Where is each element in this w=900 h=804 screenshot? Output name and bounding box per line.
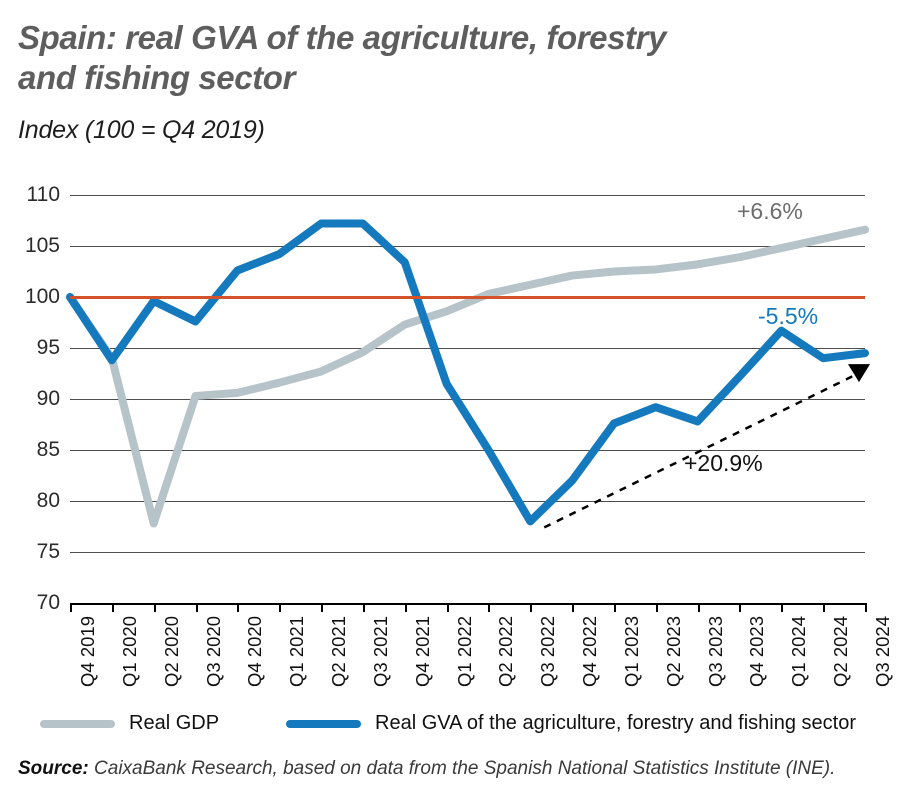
legend-item-gdp[interactable]: Real GDP [40, 712, 219, 735]
x-axis-tick-label: Q1 2021 [286, 616, 308, 687]
x-axis-tick [237, 603, 239, 612]
x-axis-tick-label: Q3 2022 [537, 616, 559, 687]
title-line-1: Spain: real GVA of the agriculture, fore… [18, 19, 666, 56]
legend-swatch-gdp [40, 720, 115, 728]
title-line-2: and fishing sector [18, 59, 295, 96]
source-note: Source: CaixaBank Research, based on dat… [18, 758, 835, 780]
x-axis-tick [823, 603, 825, 612]
source-prefix: Source: [18, 758, 89, 779]
x-axis-tick-label: Q4 2021 [412, 616, 434, 687]
x-axis-tick-label: Q4 2022 [579, 616, 601, 687]
legend-swatch-gva [286, 720, 361, 728]
y-axis-tick-label: 100 [12, 285, 60, 309]
y-axis-tick-label: 85 [12, 438, 60, 462]
reference-line-100 [70, 296, 865, 299]
annotation-gva-level: -5.5% [758, 303, 818, 330]
y-axis-tick-label: 105 [12, 234, 60, 258]
x-axis-tick [405, 603, 407, 612]
x-axis-tick-label: Q1 2023 [621, 616, 643, 687]
x-axis-tick [112, 603, 114, 612]
x-axis-tick [196, 603, 198, 612]
x-axis-tick-label: Q1 2020 [119, 616, 141, 687]
y-axis-tick-label: 95 [12, 336, 60, 360]
x-axis-tick [614, 603, 616, 612]
x-axis-tick-label: Q2 2022 [495, 616, 517, 687]
chart-subtitle: Index (100 = Q4 2019) [18, 116, 265, 145]
x-axis-tick-label: Q2 2021 [328, 616, 350, 687]
series-layer [70, 195, 865, 603]
page-title: Spain: real GVA of the agriculture, fore… [18, 18, 798, 97]
x-axis-tick-label: Q2 2023 [663, 616, 685, 687]
x-axis-tick [572, 603, 574, 612]
x-axis-tick-label: Q4 2023 [746, 616, 768, 687]
x-axis-tick-label: Q2 2024 [830, 616, 852, 687]
x-axis-tick-label: Q4 2019 [77, 616, 99, 687]
x-axis-tick [656, 603, 658, 612]
x-axis-tick [363, 603, 365, 612]
legend-label-gva: Real GVA of the agriculture, forestry an… [375, 712, 856, 735]
x-axis-tick-label: Q3 2024 [872, 616, 894, 687]
series-line-gdp [70, 230, 865, 524]
x-axis-labels: Q4 2019Q1 2020Q2 2020Q3 2020Q4 2020Q1 20… [70, 616, 865, 706]
x-axis-tick-label: Q1 2024 [788, 616, 810, 687]
x-axis-tick [447, 603, 449, 612]
x-axis-tick [488, 603, 490, 612]
y-axis-tick-label: 110 [12, 183, 60, 207]
x-axis-end-cap [865, 603, 867, 612]
chart-page: Spain: real GVA of the agriculture, fore… [0, 0, 900, 804]
y-axis-tick-label: 75 [12, 540, 60, 564]
x-axis-tick-label: Q2 2020 [161, 616, 183, 687]
x-axis-tick-label: Q3 2021 [370, 616, 392, 687]
recovery-arrow-head [848, 364, 870, 382]
legend-item-gva[interactable]: Real GVA of the agriculture, forestry an… [286, 712, 856, 735]
x-axis-tick-label: Q3 2023 [705, 616, 727, 687]
y-axis-tick-label: 80 [12, 489, 60, 513]
x-axis-line [70, 603, 865, 605]
annotation-gdp-growth: +6.6% [737, 198, 803, 225]
annotation-gva-recovery: +20.9% [684, 450, 763, 477]
x-axis-tick [321, 603, 323, 612]
x-axis-tick [279, 603, 281, 612]
x-axis-end-cap [70, 603, 72, 612]
x-axis-tick [530, 603, 532, 612]
x-axis-tick-label: Q1 2022 [454, 616, 476, 687]
x-axis-tick [154, 603, 156, 612]
x-axis-tick [781, 603, 783, 612]
x-axis-tick-label: Q4 2020 [244, 616, 266, 687]
x-axis-tick [698, 603, 700, 612]
x-axis-tick [739, 603, 741, 612]
x-axis-tick-label: Q3 2020 [203, 616, 225, 687]
legend-label-gdp: Real GDP [129, 712, 219, 735]
legend: Real GDP Real GVA of the agriculture, fo… [40, 712, 900, 742]
y-axis-tick-label: 70 [12, 591, 60, 615]
y-axis-tick-label: 90 [12, 387, 60, 411]
source-text: CaixaBank Research, based on data from t… [89, 758, 836, 779]
y-axis-labels: 707580859095100105110 [0, 195, 60, 603]
